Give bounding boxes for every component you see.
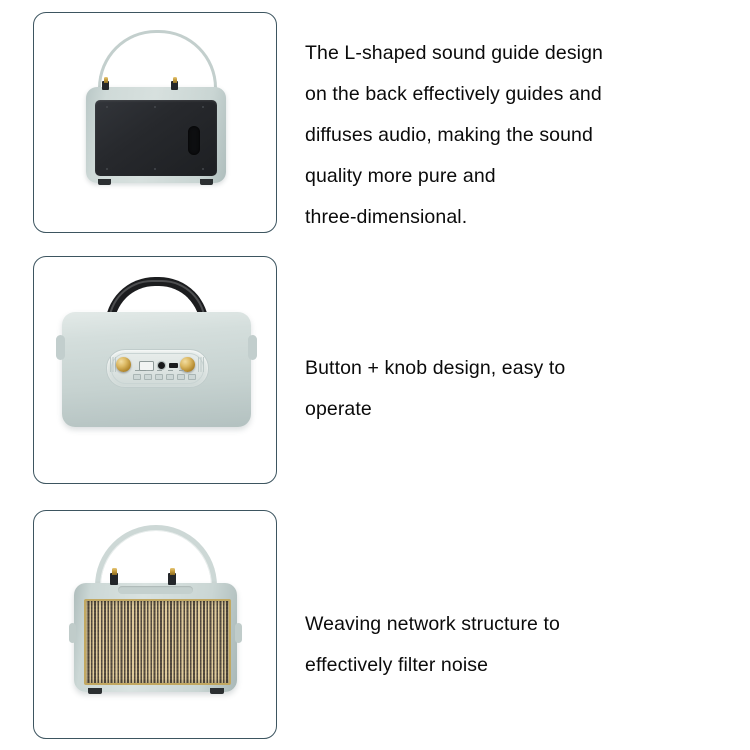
speaker-rear-view: Rear view of a light mint portable speak… xyxy=(34,13,276,232)
image-alt-text: Front view of the speaker showing the go… xyxy=(34,511,35,512)
feature-row-sound-guide: Rear view of a light mint portable speak… xyxy=(0,0,750,250)
handle-mount-left-post-icon xyxy=(104,77,108,83)
aux-jack[interactable] xyxy=(158,362,165,369)
feature-caption-button-knob: Button + knob design, easy to operate xyxy=(305,348,735,430)
woven-mesh-grille xyxy=(84,599,231,685)
micro-usb-port[interactable] xyxy=(169,363,178,368)
side-trim-left xyxy=(69,623,76,643)
control-button[interactable] xyxy=(133,374,141,380)
speaker-top-control-panel-view: Top-down view of the speaker showing the… xyxy=(34,257,276,483)
image-alt-text: Rear view of a light mint portable speak… xyxy=(34,13,35,14)
side-trim-right xyxy=(248,335,257,360)
product-feature-page: Rear view of a light mint portable speak… xyxy=(0,0,750,750)
volume-knob[interactable] xyxy=(116,357,131,372)
vent-grille-right xyxy=(198,357,205,372)
handle-mount-left-post-icon xyxy=(112,568,117,575)
speaker-foot-right xyxy=(210,688,224,694)
feature-row-button-knob: Top-down view of the speaker showing the… xyxy=(0,250,750,505)
control-label-mark xyxy=(179,370,184,371)
control-button[interactable] xyxy=(177,374,185,380)
top-control-recess xyxy=(118,586,193,594)
feature-row-weaving-network: Front view of the speaker showing the go… xyxy=(0,505,750,750)
control-button[interactable] xyxy=(155,374,163,380)
control-button[interactable] xyxy=(144,374,152,380)
control-label-mark xyxy=(168,370,173,371)
side-trim-left xyxy=(56,335,65,360)
control-button[interactable] xyxy=(188,374,196,380)
speaker-foot-left xyxy=(98,179,111,185)
speaker-foot-right xyxy=(200,179,213,185)
feature-caption-sound-guide: The L-shaped sound guide design on the b… xyxy=(305,33,735,238)
control-label-mark xyxy=(157,370,162,371)
feature-caption-weaving-network: Weaving network structure to effectively… xyxy=(305,604,735,686)
handle-mount-right-post-icon xyxy=(173,77,177,83)
handle-mount-right-post-icon xyxy=(170,568,175,575)
image-alt-text: Top-down view of the speaker showing the… xyxy=(34,257,35,258)
side-trim-right xyxy=(235,623,242,643)
control-label-mark xyxy=(135,370,140,371)
control-label-mark xyxy=(146,370,151,371)
product-image-frame-front: Front view of the speaker showing the go… xyxy=(33,510,277,739)
speaker-front-grille-view: Front view of the speaker showing the go… xyxy=(34,511,276,738)
product-image-frame-controls: Top-down view of the speaker showing the… xyxy=(33,256,277,484)
bass-port-slot xyxy=(188,126,200,155)
speaker-foot-left xyxy=(88,688,102,694)
control-button[interactable] xyxy=(166,374,174,380)
product-image-frame-rear: Rear view of a light mint portable speak… xyxy=(33,12,277,233)
